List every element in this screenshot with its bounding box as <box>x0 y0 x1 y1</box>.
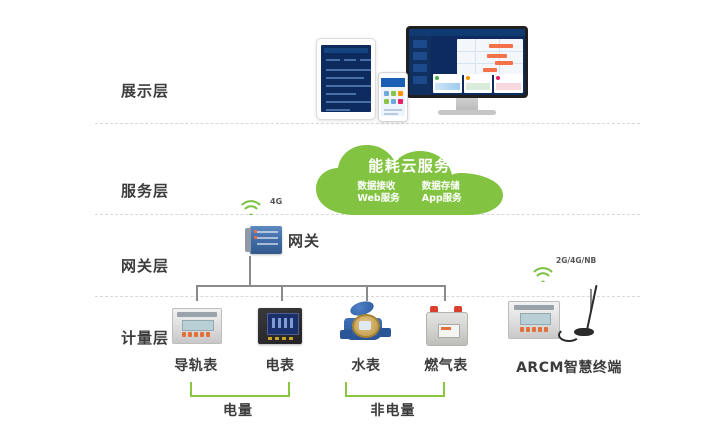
smartphone-screen <box>381 78 405 116</box>
tablet-screen <box>321 45 371 112</box>
cloud-feature-data-receive: 数据接收 <box>357 181 399 193</box>
architecture-diagram: 展示层 服务层 网关层 计量层 <box>0 0 715 443</box>
gas-meter-label: 燃气表 <box>402 355 490 375</box>
connector-gateway-trunk <box>249 256 251 286</box>
cloud-feature-data-storage: 数据存储 <box>422 181 462 193</box>
cloud-title: 能耗云服务 <box>312 155 507 176</box>
din-rail-meter-label: 导轨表 <box>152 355 240 375</box>
display-layer-devices <box>300 12 530 120</box>
layer-label-service: 服务层 <box>105 180 185 201</box>
smartphone-device <box>378 72 408 122</box>
monitor-bezel <box>406 26 528 98</box>
layer-label-gateway: 网关层 <box>105 255 185 276</box>
connector-trunk <box>196 285 445 287</box>
arcm-terminal-label: ARCM智慧终端 <box>505 357 633 377</box>
bracket-non-electric-label: 非电量 <box>345 400 441 420</box>
gateway-network-label: 4G <box>270 197 282 206</box>
monitor-stand-neck <box>456 98 478 110</box>
tablet-device <box>316 38 376 120</box>
water-meter <box>340 302 392 346</box>
arcm-smart-terminal: 2G/4G/NB <box>500 268 630 348</box>
connector-drop-gas <box>444 285 446 301</box>
wifi-signal-icon <box>240 199 262 215</box>
cloud-feature-web-service: Web服务 <box>357 193 399 205</box>
monitor-stand-base <box>438 110 496 115</box>
cloud-service: 能耗云服务 数据接收 Web服务 数据存储 App服务 <box>312 143 507 215</box>
antenna-cable-icon <box>558 328 580 342</box>
dashboard-map <box>457 39 523 75</box>
bracket-non-electric <box>345 382 445 397</box>
monitor-screen <box>409 29 525 95</box>
panel-meter <box>258 308 302 346</box>
panel-meter-label: 电表 <box>236 355 324 375</box>
cloud-feature-app-service: App服务 <box>422 193 462 205</box>
monitor-device <box>406 26 528 120</box>
arcm-network-label: 2G/4G/NB <box>556 256 596 265</box>
gas-meter <box>424 306 468 346</box>
gateway-device <box>250 226 282 254</box>
layer-separator-1 <box>95 123 640 124</box>
antenna-rod-icon <box>586 285 598 330</box>
gateway-label: 网关 <box>288 230 320 251</box>
connector-drop-din <box>196 285 198 301</box>
bracket-electric <box>190 382 290 397</box>
arcm-device-body <box>508 301 560 339</box>
bracket-electric-label: 电量 <box>190 400 286 420</box>
layer-label-display: 展示层 <box>105 80 185 101</box>
din-rail-meter <box>172 308 220 346</box>
wifi-signal-icon <box>532 266 554 282</box>
connector-drop-water <box>366 285 368 301</box>
water-meter-label: 水表 <box>322 355 410 375</box>
connector-drop-panel <box>281 285 283 301</box>
